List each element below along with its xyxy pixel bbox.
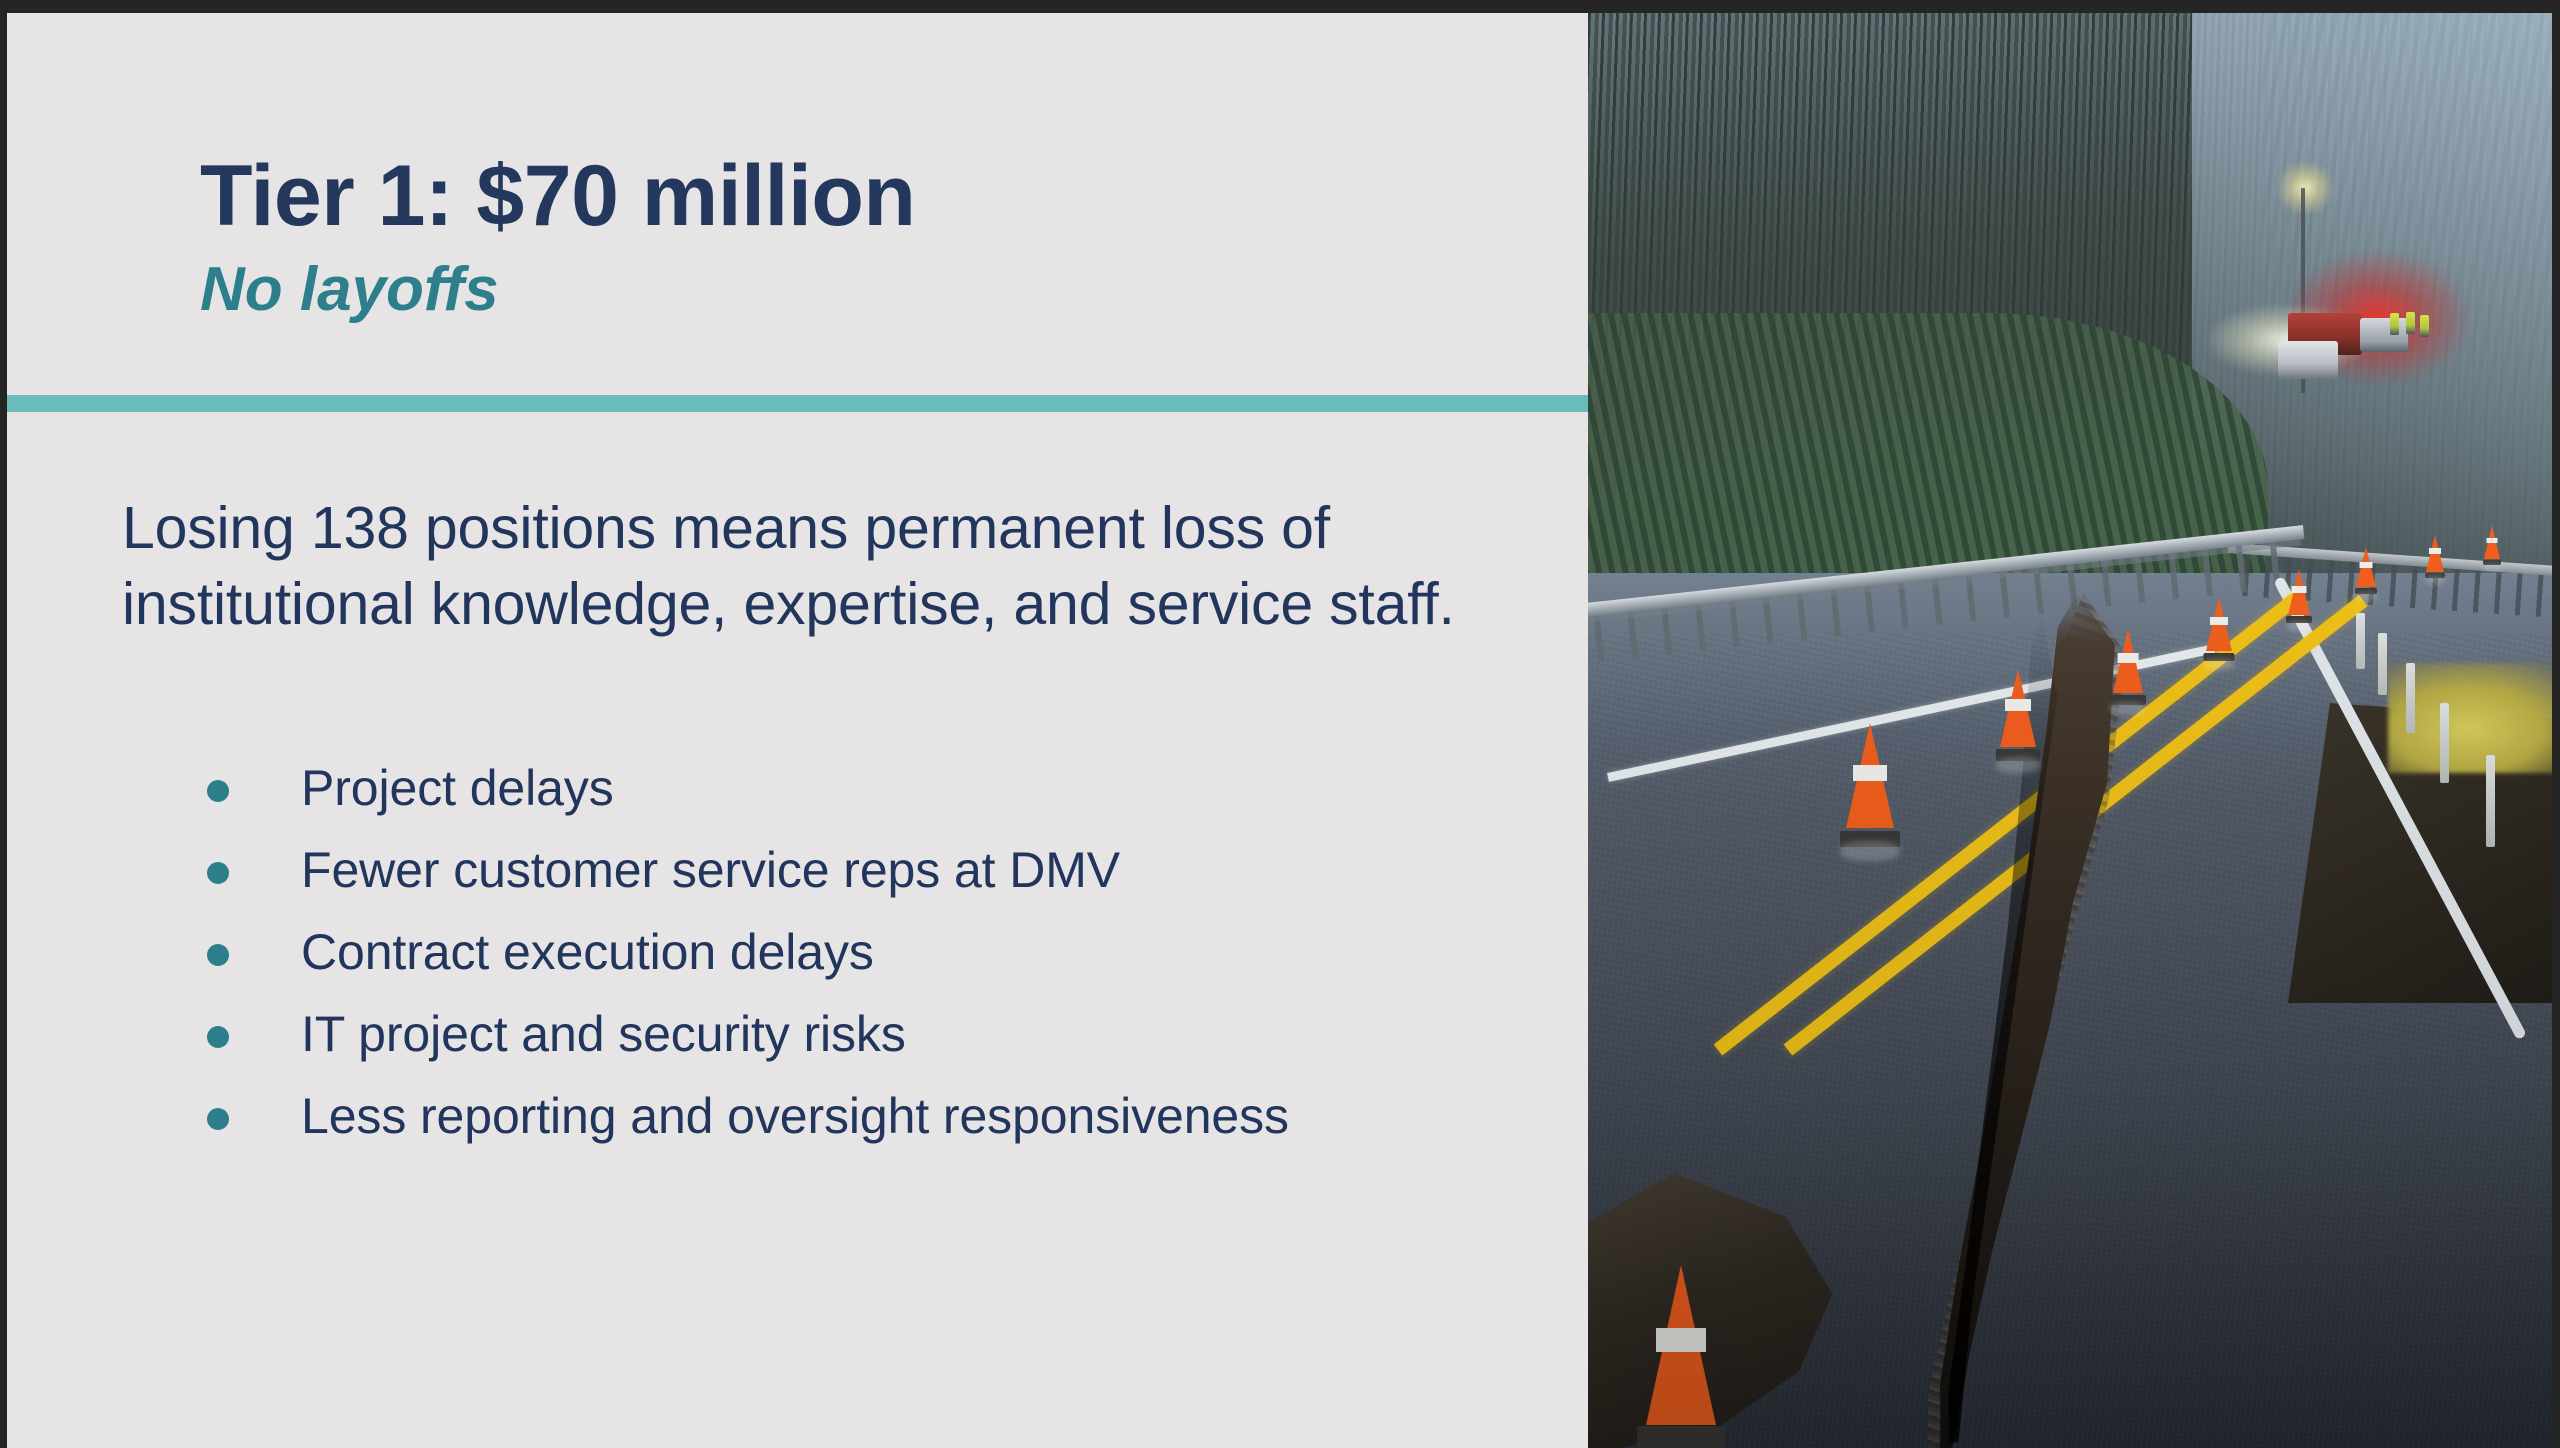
bullet-dot-icon xyxy=(207,1026,229,1048)
damaged-highway-photo xyxy=(1588,13,2552,1448)
teal-divider-bar xyxy=(7,395,1588,412)
delineator-post xyxy=(2440,703,2449,783)
bullet-dot-icon xyxy=(207,862,229,884)
traffic-cone xyxy=(2426,535,2443,578)
bullet-label: Less reporting and oversight responsiven… xyxy=(301,1081,1289,1151)
hi-vis-worker xyxy=(2406,312,2415,334)
bullet-label: Fewer customer service reps at DMV xyxy=(301,835,1120,905)
hi-vis-worker xyxy=(2420,315,2429,337)
slide-canvas: Tier 1: $70 million No layoffs Losing 13… xyxy=(7,13,2552,1448)
bullet-dot-icon xyxy=(207,1108,229,1130)
bullet-dot-icon xyxy=(207,944,229,966)
delineator-post xyxy=(2486,755,2495,847)
bullet-label: Contract execution delays xyxy=(301,917,874,987)
body-paragraph: Losing 138 positions means permanent los… xyxy=(122,491,1542,642)
list-item: Contract execution delays xyxy=(207,917,1547,999)
title-block: Tier 1: $70 million No layoffs xyxy=(200,153,1520,321)
hi-vis-worker xyxy=(2390,313,2399,335)
white-pickup-truck xyxy=(2278,341,2338,379)
list-item: IT project and security risks xyxy=(207,999,1547,1081)
streetlight-glow xyxy=(2278,163,2332,213)
slide-title: Tier 1: $70 million xyxy=(200,153,1520,239)
bullet-list: Project delays Fewer customer service re… xyxy=(207,753,1547,1163)
traffic-cone xyxy=(1646,1265,1716,1448)
bullet-dot-icon xyxy=(207,780,229,802)
traffic-cone xyxy=(2484,525,2500,565)
traffic-cone xyxy=(2356,547,2375,594)
list-item: Fewer customer service reps at DMV xyxy=(207,835,1547,917)
delineator-post xyxy=(2378,633,2387,695)
traffic-cone xyxy=(2113,629,2143,705)
traffic-cone xyxy=(2288,569,2310,623)
traffic-cone xyxy=(2000,669,2036,761)
delineator-post xyxy=(2356,613,2365,669)
traffic-cone xyxy=(1846,723,1894,847)
slide-text-column: Tier 1: $70 million No layoffs Losing 13… xyxy=(7,13,1588,1448)
presentation-frame: Tier 1: $70 million No layoffs Losing 13… xyxy=(0,0,2560,1448)
slide-subtitle: No layoffs xyxy=(200,259,1520,321)
bullet-label: IT project and security risks xyxy=(301,999,906,1069)
list-item: Less reporting and oversight responsiven… xyxy=(207,1081,1547,1163)
second-vehicle xyxy=(2360,318,2408,352)
body-block: Losing 138 positions means permanent los… xyxy=(122,491,1542,642)
delineator-post xyxy=(2406,663,2415,733)
bullet-label: Project delays xyxy=(301,753,614,823)
traffic-cone xyxy=(2206,597,2232,661)
list-item: Project delays xyxy=(207,753,1547,835)
